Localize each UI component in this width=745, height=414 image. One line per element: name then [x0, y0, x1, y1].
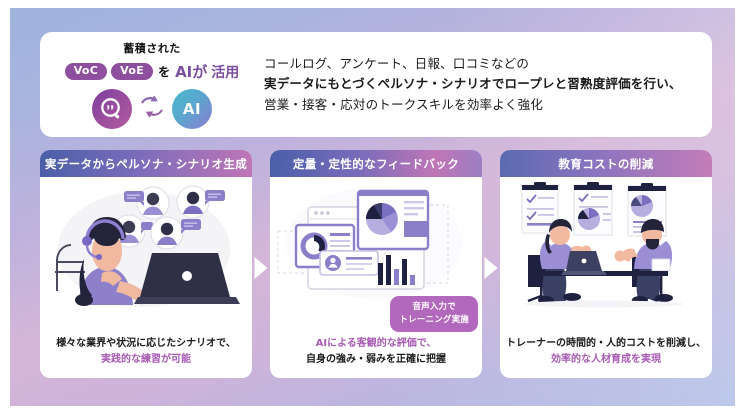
voc-pill: VoC [65, 63, 107, 80]
card-1-title: 実データからペルソナ・シナリオ生成 [40, 150, 252, 177]
sync-arrows-icon [139, 96, 165, 122]
hero-kicker: 蓄積された [123, 40, 181, 56]
voice-input-badge: 音声入力で トレーニング実施 [390, 296, 478, 332]
hero-text-block: コールログ、アンケート、日報、口コミなどの 実データにもとづくペルソナ・シナリオ… [258, 54, 712, 115]
hero-ai-label: AIが [175, 61, 207, 82]
card-3-title: 教育コストの削減 [500, 150, 712, 177]
pill-conjunction: を [158, 63, 170, 80]
card-2-caption-line-2: 自身の強み・弱みを正確に把握 [276, 352, 476, 368]
card-1-caption-line-1: 様々な業界や状況に応じたシナリオで、 [46, 336, 246, 352]
card-1-caption-line-2: 実践的な練習が可能 [46, 352, 246, 368]
voe-pill: VoE [111, 63, 153, 80]
hero-badge-group: 蓄積された VoC VoE を AIが 活用 [40, 40, 258, 129]
hero-icon-row: AI [92, 89, 212, 129]
two-people-meeting-at-table-with-clipboards-illustration [500, 177, 712, 336]
card-2-caption-line-1: AIによる客観的な評価で、 [276, 336, 476, 352]
card-2-caption: AIによる客観的な評価で、 自身の強み・弱みを正確に把握 [270, 336, 482, 378]
card-3-caption-line-1: トレーナーの時間的・人的コストを削減し、 [506, 336, 706, 352]
hero-line-3: 営業・接客・応対のトークスキルを効率よく強化 [264, 97, 543, 112]
infographic-slide: 蓄積された VoC VoE を AIが 活用 [0, 0, 745, 414]
arrow-gap-1 [252, 150, 270, 378]
card-row: 実データからペルソナ・シナリオ生成 [40, 150, 712, 378]
card-3-caption-line-2: 効率的な人材育成を実現 [506, 352, 706, 368]
hero-ai-verb: 活用 [211, 62, 239, 82]
hero-panel: 蓄積された VoC VoE を AIが 活用 [40, 32, 712, 137]
voc-voe-pill-row: VoC VoE を AIが 活用 [65, 61, 240, 82]
arrow-right-icon-1 [255, 257, 268, 279]
card-feedback[interactable]: 定量・定性的なフィードバック [270, 150, 482, 378]
arrow-right-icon-2 [485, 257, 498, 279]
ai-badge-icon: AI [172, 89, 212, 129]
card-persona-generation[interactable]: 実データからペルソナ・シナリオ生成 [40, 150, 252, 378]
card-cost-reduction[interactable]: 教育コストの削減 [500, 150, 712, 378]
call-center-agent-with-customer-avatars-illustration [40, 177, 252, 336]
arrow-gap-2 [482, 150, 500, 378]
analytics-dashboard-charts-illustration: 音声入力で トレーニング実施 [270, 177, 482, 336]
hero-line-1: コールログ、アンケート、日報、口コミなどの [264, 54, 712, 74]
card-2-title: 定量・定性的なフィードバック [270, 150, 482, 177]
card-1-caption: 様々な業界や状況に応じたシナリオで、 実践的な練習が可能 [40, 336, 252, 378]
quote-search-icon [92, 89, 132, 129]
voice-input-badge-line-2: トレーニング実施 [399, 314, 469, 326]
voice-input-badge-line-1: 音声入力で [399, 301, 469, 313]
card-3-caption: トレーナーの時間的・人的コストを削減し、 効率的な人材育成を実現 [500, 336, 712, 378]
hero-line-2: 実データにもとづくペルソナ・シナリオでロープレと習熟度評価を行い、 [264, 74, 712, 94]
